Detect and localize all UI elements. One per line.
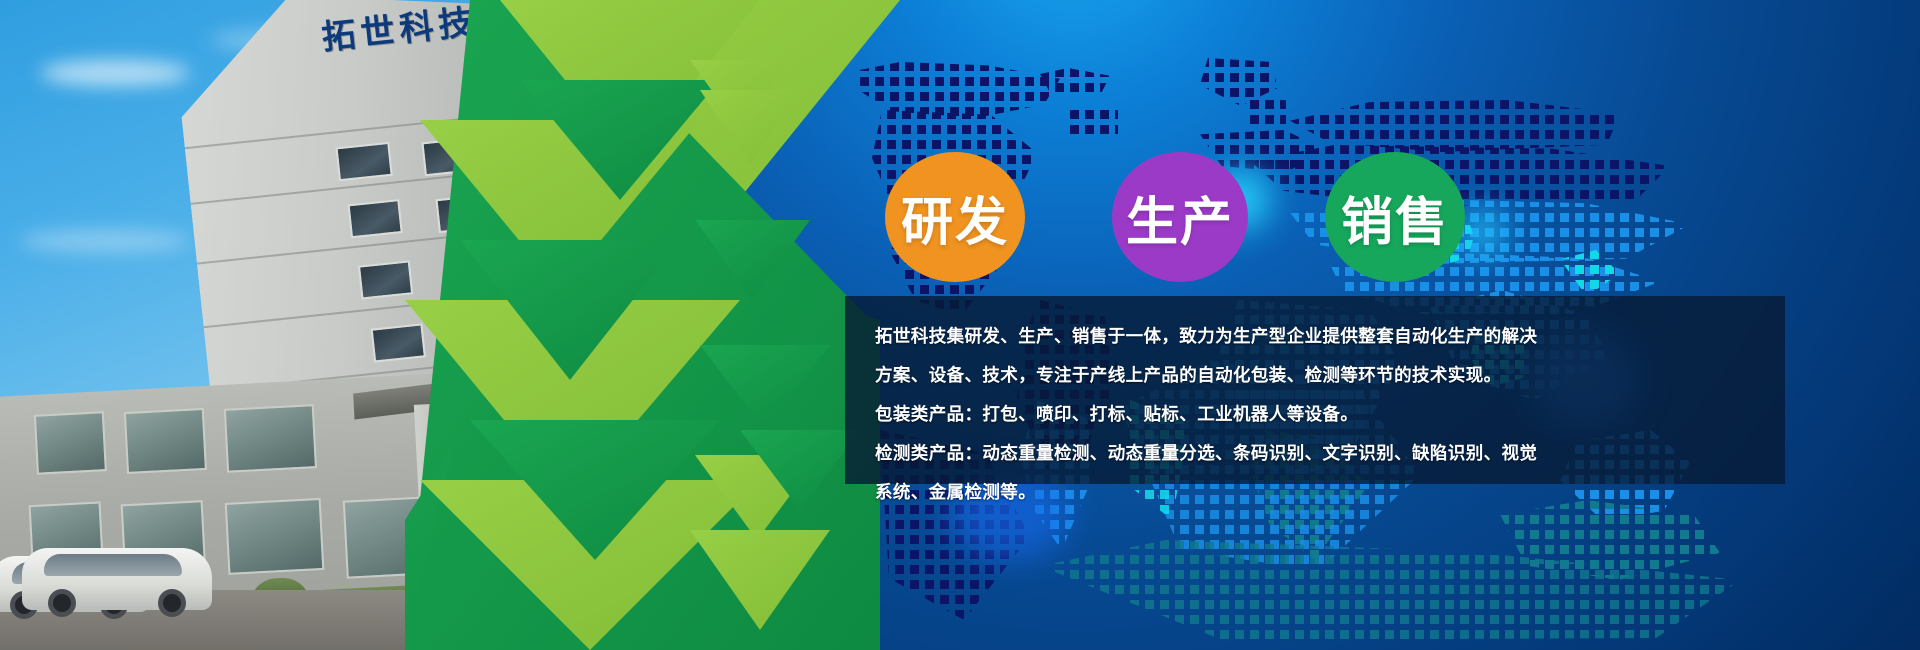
circle-production[interactable]: 生产 <box>1112 152 1248 282</box>
cloud-1 <box>40 60 190 86</box>
factory-photo-collage: 拓世科技 <box>0 0 640 650</box>
circle-rd[interactable]: 研发 <box>885 152 1025 282</box>
circle-rd-label: 研发 <box>901 180 1009 255</box>
white-car-2 <box>22 548 212 610</box>
company-hero-banner: 拓世科技 <box>0 0 1920 650</box>
cloud-3 <box>20 230 190 252</box>
glow-accent-right <box>1460 210 1506 256</box>
company-description-panel: 拓世科技集研发、生产、销售于一体，致力为生产型企业提供整套自动化生产的解决 方案… <box>845 296 1785 484</box>
circle-production-label: 生产 <box>1126 180 1234 255</box>
description-line-5: 系统、金属检测等。 <box>875 478 1751 508</box>
description-line-2: 方案、设备、技术，专注于产线上产品的自动化包装、检测等环节的技术实现。 <box>875 361 1751 391</box>
circle-sales[interactable]: 销售 <box>1325 152 1465 282</box>
description-line-1: 拓世科技集研发、生产、销售于一体，致力为生产型企业提供整套自动化生产的解决 <box>875 322 1751 352</box>
circle-sales-label: 销售 <box>1341 180 1449 255</box>
building-sign-text: 拓世科技 <box>319 0 479 59</box>
description-line-3: 包装类产品：打包、喷印、打标、贴标、工业机器人等设备。 <box>875 400 1751 430</box>
description-line-4: 检测类产品：动态重量检测、动态重量分选、条码识别、文字识别、缺陷识别、视觉 <box>875 439 1751 469</box>
